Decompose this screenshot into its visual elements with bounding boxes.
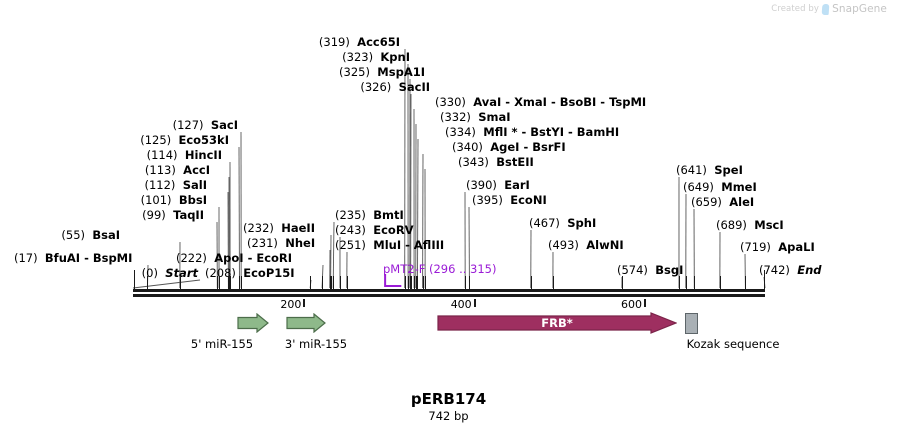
site-label-mlui-afliii[interactable]: (251) MluI - AflIII xyxy=(335,239,444,251)
site-label-apali[interactable]: (719) ApaLI xyxy=(740,241,815,253)
separator-dash: - xyxy=(596,95,609,109)
enzyme-name: SacI xyxy=(211,118,238,132)
cut-site-tick xyxy=(180,276,181,289)
site-position: (55) xyxy=(61,228,85,242)
site-position: (395) xyxy=(472,193,503,207)
site-label-acci[interactable]: (113) AccI xyxy=(145,164,210,176)
snapgene-logo-icon xyxy=(822,4,829,15)
enzyme-name: MluI xyxy=(373,238,401,252)
site-label-econi[interactable]: (395) EcoNI xyxy=(472,194,547,206)
site-label-eco53ki[interactable]: (125) Eco53kI xyxy=(140,134,229,146)
site-position: (231) xyxy=(247,236,278,250)
watermark-created-by-text: Created by xyxy=(771,4,819,14)
cut-site-tick xyxy=(622,276,623,289)
primer-marker xyxy=(0,0,897,430)
enzyme-name: NheI xyxy=(285,236,315,250)
site-position: (659) xyxy=(691,195,722,209)
enzyme-name: AgeI xyxy=(490,140,519,154)
enzyme-name: AleI xyxy=(729,195,754,209)
site-position: (334) xyxy=(445,125,476,139)
site-label-bbsi[interactable]: (101) BbsI xyxy=(141,194,207,206)
cut-site-tick xyxy=(720,276,721,289)
site-position: (641) xyxy=(676,163,707,177)
enzyme-name: MscI xyxy=(754,218,783,232)
site-position: (99) xyxy=(142,208,166,222)
ruler-label: 400 xyxy=(451,298,472,311)
cut-site-tick xyxy=(219,276,220,289)
site-label-taqii[interactable]: (99) TaqII xyxy=(142,209,204,221)
backbone-strand-bottom xyxy=(133,294,765,297)
enzyme-name: BsoBI xyxy=(560,95,597,109)
site-position: (112) xyxy=(144,178,175,192)
site-label-hincii[interactable]: (114) HincII xyxy=(147,149,222,161)
cut-site-tick xyxy=(417,276,418,289)
enzyme-name: XmaI xyxy=(514,95,547,109)
site-label-agei-bsrfi[interactable]: (340) AgeI - BsrFI xyxy=(452,141,566,153)
enzyme-name: KpnI xyxy=(380,50,410,64)
site-label-spei[interactable]: (641) SpeI xyxy=(676,164,743,176)
enzyme-name: SalI xyxy=(183,178,207,192)
backbone-strand-top xyxy=(133,289,765,292)
enzyme-name: EcoRV xyxy=(373,223,413,237)
cut-site-tick xyxy=(331,276,332,289)
cut-site-tick xyxy=(333,276,334,289)
separator-dash: - xyxy=(518,125,531,139)
separator-dash: - xyxy=(547,95,560,109)
site-label-sacii[interactable]: (326) SacII xyxy=(360,81,430,93)
enzyme-name: ApoI xyxy=(214,251,243,265)
ruler-tick xyxy=(303,299,305,307)
site-position: (232) xyxy=(243,221,274,235)
enzyme-name: SphI xyxy=(567,216,596,230)
cut-site-tick xyxy=(465,276,466,289)
enzyme-name: MspA1I xyxy=(377,65,425,79)
enzyme-name: BfuAI xyxy=(45,251,80,265)
site-position: (114) xyxy=(147,148,178,162)
enzyme-name: SacII xyxy=(399,80,430,94)
enzyme-name: MflI * xyxy=(483,125,517,139)
site-label-smai[interactable]: (332) SmaI xyxy=(440,111,511,123)
cut-site-tick xyxy=(679,276,680,289)
site-label-mspa1i[interactable]: (325) MspA1I xyxy=(339,66,425,78)
site-label-ecorv[interactable]: (243) EcoRV xyxy=(335,224,414,236)
enzyme-name: BsgI xyxy=(655,263,683,277)
site-label-bmti[interactable]: (235) BmtI xyxy=(335,209,404,221)
cut-site-tick xyxy=(347,276,348,289)
cut-site-tick xyxy=(405,276,406,289)
cut-site-tick xyxy=(764,270,765,289)
cut-site-tick xyxy=(745,276,746,289)
site-label-bsteii[interactable]: (343) BstEII xyxy=(458,156,534,168)
site-position: (332) xyxy=(440,110,471,124)
site-position: (493) xyxy=(548,238,579,252)
site-label-haeii[interactable]: (232) HaeII xyxy=(243,222,315,234)
enzyme-name: Acc65I xyxy=(357,35,400,49)
site-position: (251) xyxy=(335,238,366,252)
enzyme-name: BsrFI xyxy=(532,140,565,154)
site-position: (390) xyxy=(466,178,497,192)
site-position: (323) xyxy=(342,50,373,64)
cut-site-tick xyxy=(322,276,323,289)
cut-site-tick xyxy=(411,276,412,289)
enzyme-name: EarI xyxy=(504,178,530,192)
site-label-msci[interactable]: (689) MscI xyxy=(716,219,784,231)
enzyme-name: ApaLI xyxy=(778,240,815,254)
cut-site-tick xyxy=(686,276,687,289)
site-position: (319) xyxy=(319,35,350,49)
enzyme-name: BsaI xyxy=(92,228,120,242)
separator-dash: - xyxy=(564,125,577,139)
plasmid-length: 742 bp xyxy=(0,409,897,423)
separator-dash: - xyxy=(519,140,532,154)
separator-dash: - xyxy=(244,251,257,265)
enzyme-name: BstYI xyxy=(530,125,564,139)
enzyme-name: HaeII xyxy=(281,221,315,235)
site-label-bsgi[interactable]: (574) BsgI xyxy=(617,264,683,276)
primer-label-pmt2-f[interactable]: pMT2-F (296 .. 315) xyxy=(383,263,496,275)
enzyme-name: End xyxy=(797,263,821,277)
primer-name: pMT2-F xyxy=(383,262,425,276)
enzyme-name: AccI xyxy=(183,163,210,177)
site-position: (113) xyxy=(145,163,176,177)
cut-site-tick xyxy=(134,270,135,289)
watermark-brand-text: SnapGene xyxy=(832,3,887,15)
feature-mir155-5p[interactable] xyxy=(237,313,269,333)
enzyme-name: BspMI xyxy=(93,251,133,265)
site-label-sali[interactable]: (112) SalI xyxy=(144,179,207,191)
site-position: (467) xyxy=(529,216,560,230)
enzyme-name: AflIII xyxy=(414,238,444,252)
site-label-mfli-bstyi-bamhi[interactable]: (334) MflI * - BstYI - BamHI xyxy=(445,126,619,138)
site-position: (326) xyxy=(360,80,391,94)
site-position: (689) xyxy=(716,218,747,232)
feature-mir155-3p[interactable] xyxy=(286,313,326,333)
cut-site-tick xyxy=(340,276,341,289)
enzyme-name: Start xyxy=(165,266,198,280)
site-label-end[interactable]: (742) End xyxy=(759,264,822,276)
enzyme-name: SpeI xyxy=(714,163,743,177)
site-position: (208) xyxy=(205,266,236,280)
cut-site-tick xyxy=(694,276,695,289)
cut-site-tick xyxy=(310,276,311,289)
enzyme-name: AlwNI xyxy=(586,238,623,252)
cut-site-tick xyxy=(423,276,424,289)
cut-site-tick xyxy=(230,276,231,289)
site-label-bfuai-bspmi[interactable]: (17) BfuAI - BspMI xyxy=(14,252,132,264)
cut-site-tick xyxy=(553,276,554,289)
ruler-label: 200 xyxy=(280,298,301,311)
enzyme-name: HincII xyxy=(185,148,222,162)
site-label-saci[interactable]: (127) SacI xyxy=(173,119,238,131)
site-position: (330) xyxy=(435,95,466,109)
site-position: (574) xyxy=(617,263,648,277)
site-position: (222) xyxy=(176,251,207,265)
site-label-start[interactable]: (0) Start xyxy=(142,267,198,279)
snapgene-watermark: Created by SnapGene xyxy=(771,3,887,15)
feature-label-kozak: Kozak sequence xyxy=(687,337,780,351)
site-label-alei[interactable]: (659) AleI xyxy=(691,196,754,208)
site-position: (243) xyxy=(335,223,366,237)
enzyme-name: TaqII xyxy=(173,208,204,222)
separator-dash: - xyxy=(401,238,414,252)
separator-dash: - xyxy=(80,251,93,265)
plasmid-map-canvas: Created by SnapGene (0) Start(17) BfuAI … xyxy=(0,0,897,430)
site-position: (235) xyxy=(335,208,366,222)
site-label-alwni[interactable]: (493) AlwNI xyxy=(548,239,624,251)
site-label-apoi-ecori[interactable]: (222) ApoI - EcoRI xyxy=(176,252,292,264)
separator-dash: - xyxy=(501,95,514,109)
enzyme-name: TspMI xyxy=(609,95,646,109)
site-position: (325) xyxy=(339,65,370,79)
site-position: (127) xyxy=(173,118,204,132)
enzyme-name: BmtI xyxy=(373,208,404,222)
ruler-tick xyxy=(474,299,476,307)
enzyme-name: BamHI xyxy=(577,125,619,139)
page-title: pERB174 xyxy=(0,390,897,408)
site-position: (343) xyxy=(458,155,489,169)
enzyme-name: BbsI xyxy=(179,193,207,207)
site-label-kpni[interactable]: (323) KpnI xyxy=(342,51,410,63)
enzyme-name: EcoNI xyxy=(510,193,546,207)
leader-lines xyxy=(0,0,897,430)
site-position: (101) xyxy=(141,193,172,207)
enzyme-name: SmaI xyxy=(478,110,510,124)
ruler-label: 600 xyxy=(621,298,642,311)
site-label-acc65i[interactable]: (319) Acc65I xyxy=(319,36,400,48)
feature-inline-label-frb-star: FRB* xyxy=(541,316,573,330)
site-position: (719) xyxy=(740,240,771,254)
enzyme-name: BstEII xyxy=(496,155,534,169)
enzyme-name: EcoP15I xyxy=(243,266,294,280)
feature-label-mir155-3p: 3' miR-155 xyxy=(285,337,347,351)
cut-site-tick xyxy=(531,276,532,289)
cut-site-tick xyxy=(147,276,148,289)
primer-range: (296 .. 315) xyxy=(429,262,497,276)
enzyme-name: Eco53kI xyxy=(178,133,229,147)
enzyme-name: EcoRI xyxy=(256,251,292,265)
site-position: (0) xyxy=(142,266,158,280)
site-label-sphi[interactable]: (467) SphI xyxy=(529,217,596,229)
site-label-eari[interactable]: (390) EarI xyxy=(466,179,530,191)
enzyme-name: AvaI xyxy=(473,95,501,109)
site-position: (17) xyxy=(14,251,38,265)
site-position: (340) xyxy=(452,140,483,154)
enzyme-name: MmeI xyxy=(721,180,757,194)
feature-label-mir155-5p: 5' miR-155 xyxy=(191,337,253,351)
feature-kozak[interactable] xyxy=(685,313,698,334)
site-label-bsai[interactable]: (55) BsaI xyxy=(61,229,120,241)
site-label-nhei[interactable]: (231) NheI xyxy=(247,237,315,249)
site-label-avai-xmai-bsobi-tspmi[interactable]: (330) AvaI - XmaI - BsoBI - TspMI xyxy=(435,96,646,108)
ruler-tick xyxy=(644,299,646,307)
cut-site-tick xyxy=(425,276,426,289)
cut-site-tick xyxy=(469,276,470,289)
cut-site-tick xyxy=(241,276,242,289)
site-label-mmei[interactable]: (649) MmeI xyxy=(683,181,757,193)
site-position: (125) xyxy=(140,133,171,147)
site-position: (649) xyxy=(683,180,714,194)
